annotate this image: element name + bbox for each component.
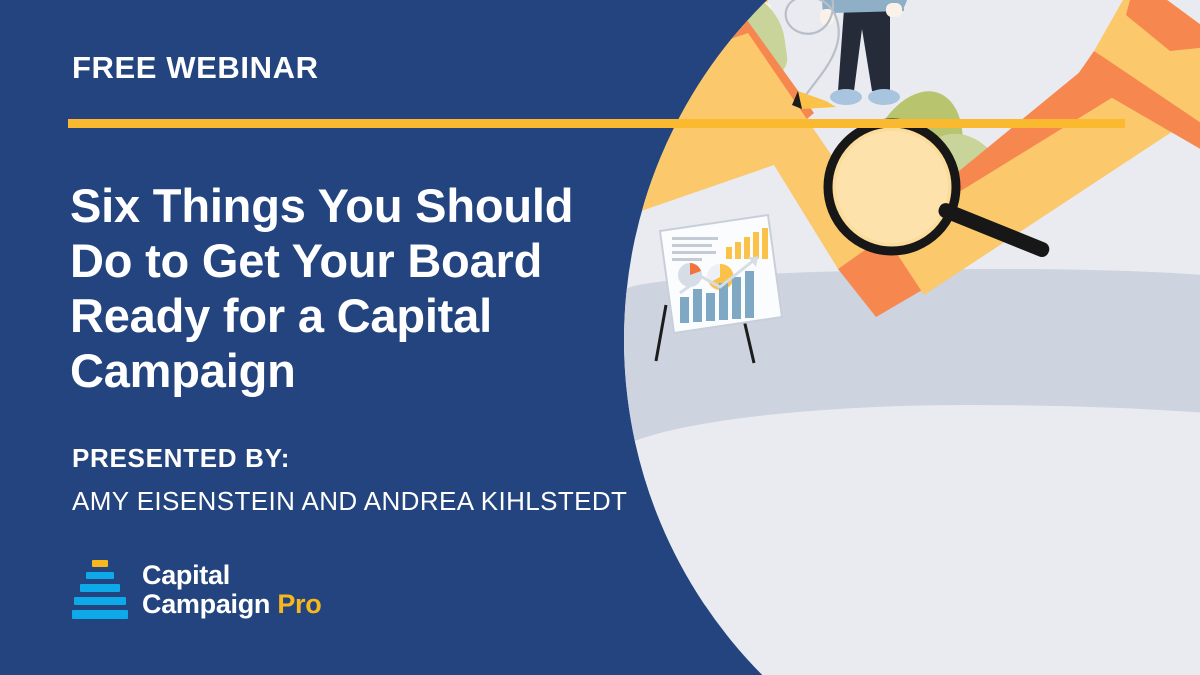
gold-divider [68,119,1125,128]
flipchart-icon [646,213,791,368]
illustration-panel [596,0,1200,675]
presenter-names: AMY EISENSTEIN AND ANDREA KIHLSTEDT [72,486,627,517]
logo-bar-blue [80,584,120,592]
logo-bar-blue [86,572,114,579]
page-title: Six Things You Should Do to Get Your Boa… [70,179,630,399]
logo-bar-blue [72,610,128,619]
logo-line-2-wrap: Campaign Pro [142,590,321,618]
logo-line-1: Capital [142,561,321,589]
presented-by-label: PRESENTED BY: [72,443,290,474]
magnifying-glass-icon [814,115,1074,295]
illustration-circle-mask [624,0,1200,675]
logo-pro-suffix: Pro [277,589,321,619]
webinar-promo-slide: FREE WEBINAR Six Things You Should Do to… [0,0,1200,675]
logo-wordmark: Capital Campaign Pro [142,561,321,617]
kicker-label: FREE WEBINAR [72,52,319,83]
logo-bar-blue [74,597,126,605]
logo: Capital Campaign Pro [72,560,321,619]
ground-foreground [624,405,1200,605]
logo-line-2: Campaign [142,589,270,619]
paper-plane-icon [752,0,917,113]
logo-bar-gold [92,560,108,567]
logo-pyramid-icon [72,560,128,619]
